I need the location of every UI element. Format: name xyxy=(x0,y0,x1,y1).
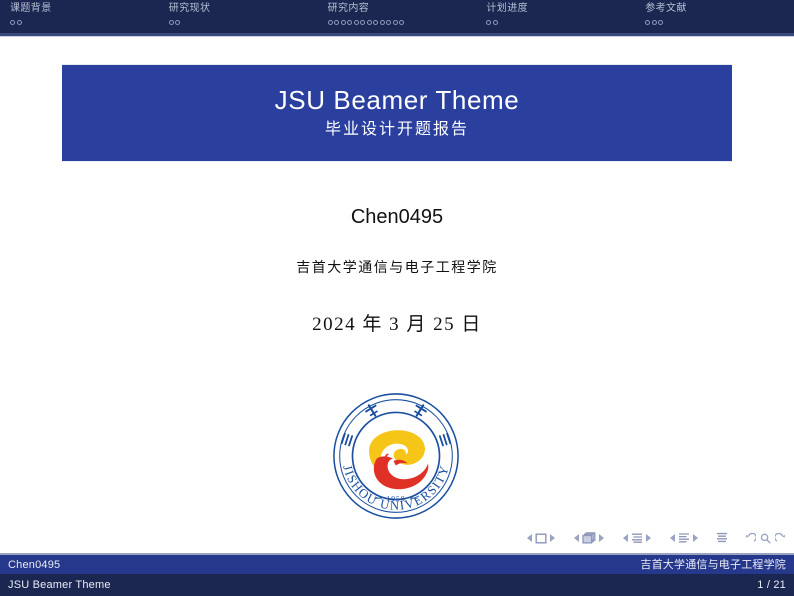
nav-section-slide-dots[interactable] xyxy=(328,17,477,27)
header-navigation-bar: 课题背景 研究现状 研究内容 xyxy=(0,0,794,36)
author-name: Chen0495 xyxy=(0,203,794,231)
document-icon[interactable] xyxy=(716,532,728,544)
presentation-date: 2024 年 3 月 25 日 xyxy=(0,311,794,339)
footer-title: JSU Beamer Theme xyxy=(8,578,111,592)
nav-dot[interactable] xyxy=(493,20,498,25)
nav-section-1[interactable]: 研究现状 xyxy=(159,0,318,33)
nav-section-slide-dots[interactable] xyxy=(10,17,159,27)
nav-dot[interactable] xyxy=(645,20,650,25)
footer-title-row: JSU Beamer Theme 1 / 21 xyxy=(0,574,794,596)
title-block: JSU Beamer Theme 毕业设计开题报告 xyxy=(62,64,732,162)
footer-author-row: Chen0495 吉首大学通信与电子工程学院 xyxy=(0,555,794,574)
institute-name: 吉首大学通信与电子工程学院 xyxy=(0,258,794,280)
header-section-list: 课题背景 研究现状 研究内容 xyxy=(0,0,794,33)
nav-dot[interactable] xyxy=(658,20,663,25)
nav-dot[interactable] xyxy=(341,20,346,25)
nav-dot[interactable] xyxy=(486,20,491,25)
nav-dot[interactable] xyxy=(347,20,352,25)
nav-section-label[interactable]: 计划进度 xyxy=(486,3,635,15)
footer-page-number: 1 / 21 xyxy=(757,578,786,592)
nav-section-slide-dots[interactable] xyxy=(486,17,635,27)
nav-section-slide-dots[interactable] xyxy=(645,17,794,27)
section-navigation-group[interactable] xyxy=(669,532,699,544)
section-previous-icon[interactable] xyxy=(669,533,676,543)
section-next-icon[interactable] xyxy=(692,533,699,543)
subsection-navigation-group[interactable] xyxy=(622,532,652,544)
frame-next-icon[interactable] xyxy=(598,533,605,543)
footer-author: Chen0495 xyxy=(8,558,60,572)
back-icon[interactable] xyxy=(745,533,756,544)
frame-navigation-group[interactable] xyxy=(573,532,605,544)
nav-dot[interactable] xyxy=(373,20,378,25)
nav-section-4[interactable]: 参考文献 xyxy=(635,0,794,33)
jishou-university-seal-icon: JISHOU UNIVERSITY 1958 xyxy=(332,392,460,520)
nav-section-slide-dots[interactable] xyxy=(169,17,318,27)
forward-icon[interactable] xyxy=(775,533,786,544)
section-icon[interactable] xyxy=(678,532,690,544)
frame-previous-icon[interactable] xyxy=(573,533,580,543)
nav-section-label[interactable]: 课题背景 xyxy=(10,3,159,15)
nav-section-label[interactable]: 研究内容 xyxy=(328,3,477,15)
beamer-navigation-symbols[interactable] xyxy=(526,530,786,546)
nav-dot[interactable] xyxy=(10,20,15,25)
nav-section-label[interactable]: 参考文献 xyxy=(645,3,794,15)
search-icon[interactable] xyxy=(760,533,771,544)
nav-dot[interactable] xyxy=(367,20,372,25)
footer: Chen0495 吉首大学通信与电子工程学院 JSU Beamer Theme … xyxy=(0,553,794,596)
university-logo: JISHOU UNIVERSITY 1958 xyxy=(332,392,460,520)
nav-dot[interactable] xyxy=(17,20,22,25)
slide-next-icon[interactable] xyxy=(549,533,556,543)
nav-dot[interactable] xyxy=(360,20,365,25)
nav-dot[interactable] xyxy=(386,20,391,25)
nav-section-label[interactable]: 研究现状 xyxy=(169,3,318,15)
nav-dot[interactable] xyxy=(393,20,398,25)
logo-year: 1958 xyxy=(386,494,405,503)
slide-navigation-group[interactable] xyxy=(526,533,556,544)
nav-dot[interactable] xyxy=(334,20,339,25)
nav-section-0[interactable]: 课题背景 xyxy=(0,0,159,33)
nav-dot[interactable] xyxy=(399,20,404,25)
nav-dot[interactable] xyxy=(169,20,174,25)
slide-icon[interactable] xyxy=(535,533,547,544)
subsection-previous-icon[interactable] xyxy=(622,533,629,543)
nav-dot[interactable] xyxy=(328,20,333,25)
page-subtitle: 毕业设计开题报告 xyxy=(325,117,469,143)
header-separator-line xyxy=(0,36,794,37)
subsection-icon[interactable] xyxy=(631,532,643,544)
slide-previous-icon[interactable] xyxy=(526,533,533,543)
nav-dot[interactable] xyxy=(175,20,180,25)
nav-dot[interactable] xyxy=(652,20,657,25)
nav-section-3[interactable]: 计划进度 xyxy=(476,0,635,33)
nav-dot[interactable] xyxy=(354,20,359,25)
page-title: JSU Beamer Theme xyxy=(275,83,520,117)
nav-dot[interactable] xyxy=(380,20,385,25)
footer-institute: 吉首大学通信与电子工程学院 xyxy=(640,558,786,572)
frame-icon[interactable] xyxy=(582,532,596,544)
nav-section-2[interactable]: 研究内容 xyxy=(318,0,477,33)
subsection-next-icon[interactable] xyxy=(645,533,652,543)
